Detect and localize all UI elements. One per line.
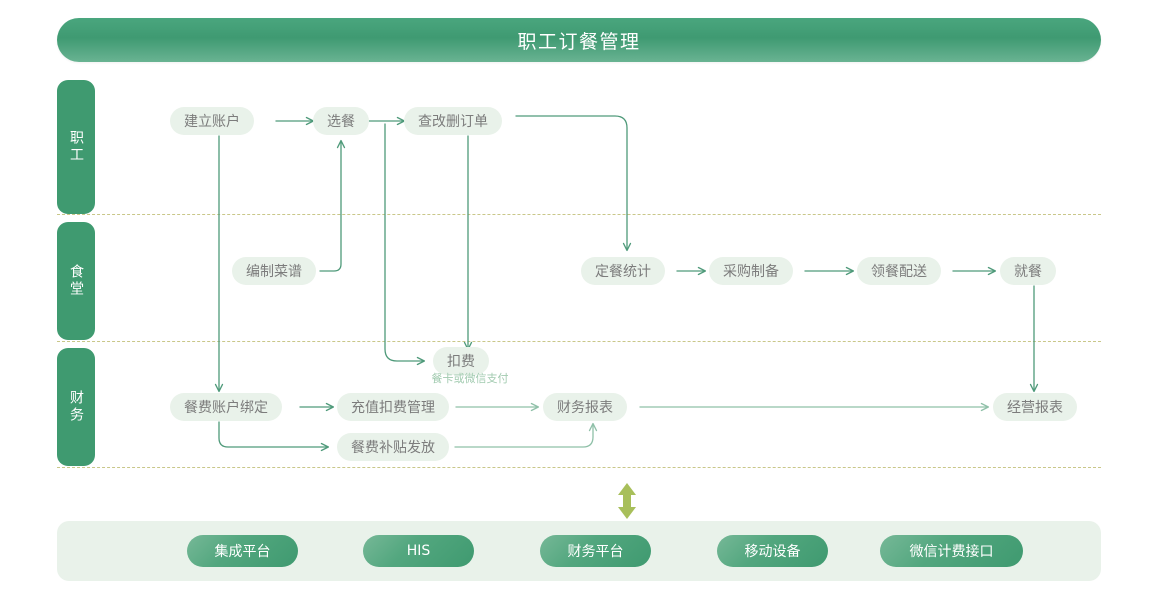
edge-manage-order-to-order-stats — [516, 116, 627, 250]
diagram-canvas: 职工订餐管理 职工 食堂 财务 — [0, 0, 1151, 601]
node-order-stats[interactable]: 定餐统计 — [581, 257, 665, 285]
lane-label-employee-text: 职工 — [69, 130, 83, 164]
node-create-account[interactable]: 建立账户 — [170, 107, 254, 135]
node-purchase-prepare[interactable]: 采购制备 — [709, 257, 793, 285]
node-operation-report[interactable]: 经营报表 — [993, 393, 1077, 421]
node-choose-meal[interactable]: 选餐 — [313, 107, 369, 135]
node-account-binding[interactable]: 餐费账户绑定 — [170, 393, 282, 421]
platform-finance[interactable]: 财务平台 — [540, 535, 651, 567]
platform-mobile-label: 移动设备 — [745, 541, 801, 561]
connector-layer — [0, 0, 1151, 601]
node-deduct-fee-subtitle: 餐卡或微信支付 — [405, 370, 535, 386]
lane-label-finance-text: 财务 — [69, 390, 83, 424]
node-dining-label: 就餐 — [1014, 261, 1042, 281]
platform-integration-label: 集成平台 — [215, 541, 271, 561]
node-operation-report-label: 经营报表 — [1007, 397, 1063, 417]
lane-divider-canteen-finance — [57, 341, 1101, 342]
node-compile-menu[interactable]: 编制菜谱 — [232, 257, 316, 285]
platform-integration[interactable]: 集成平台 — [187, 535, 298, 567]
edge-order-branch-to-deduct-fee — [385, 124, 424, 361]
node-order-stats-label: 定餐统计 — [595, 261, 651, 281]
bidirectional-sync-arrow — [618, 483, 636, 519]
node-compile-menu-label: 编制菜谱 — [246, 261, 302, 281]
node-manage-order[interactable]: 查改删订单 — [404, 107, 502, 135]
node-finance-report[interactable]: 财务报表 — [543, 393, 627, 421]
lane-label-canteen-text: 食堂 — [69, 264, 83, 298]
node-finance-report-label: 财务报表 — [557, 397, 613, 417]
edge-compile-menu-to-choose-meal — [320, 141, 341, 271]
platform-his-label: HIS — [407, 543, 431, 559]
lane-label-canteen: 食堂 — [57, 222, 95, 340]
node-deduct-fee-label: 扣费 — [447, 351, 475, 371]
node-create-account-label: 建立账户 — [184, 111, 240, 131]
node-meal-subsidy-label: 餐费补贴发放 — [351, 437, 435, 457]
node-purchase-prepare-label: 采购制备 — [723, 261, 779, 281]
node-recharge-deduct-label: 充值扣费管理 — [351, 397, 435, 417]
node-meal-subsidy[interactable]: 餐费补贴发放 — [337, 433, 449, 461]
platform-mobile[interactable]: 移动设备 — [717, 535, 828, 567]
node-account-binding-label: 餐费账户绑定 — [184, 397, 268, 417]
page-title: 职工订餐管理 — [517, 27, 640, 54]
lane-divider-finance-bottom — [57, 467, 1101, 468]
node-meal-delivery-label: 领餐配送 — [871, 261, 927, 281]
lane-divider-employee-canteen — [57, 214, 1101, 215]
node-recharge-deduct[interactable]: 充值扣费管理 — [337, 393, 449, 421]
edge-account-binding-to-subsidy — [219, 422, 328, 447]
platform-finance-label: 财务平台 — [568, 541, 624, 561]
platform-wechat[interactable]: 微信计费接口 — [880, 535, 1023, 567]
lane-label-finance: 财务 — [57, 348, 95, 466]
platform-wechat-label: 微信计费接口 — [910, 541, 994, 561]
node-meal-delivery[interactable]: 领餐配送 — [857, 257, 941, 285]
node-choose-meal-label: 选餐 — [327, 111, 355, 131]
node-manage-order-label: 查改删订单 — [418, 111, 488, 131]
lane-label-employee: 职工 — [57, 80, 95, 214]
diagram-title-bar: 职工订餐管理 — [57, 18, 1101, 62]
node-dining[interactable]: 就餐 — [1000, 257, 1056, 285]
platform-his[interactable]: HIS — [363, 535, 474, 567]
edge-subsidy-to-finance-report — [455, 424, 593, 447]
